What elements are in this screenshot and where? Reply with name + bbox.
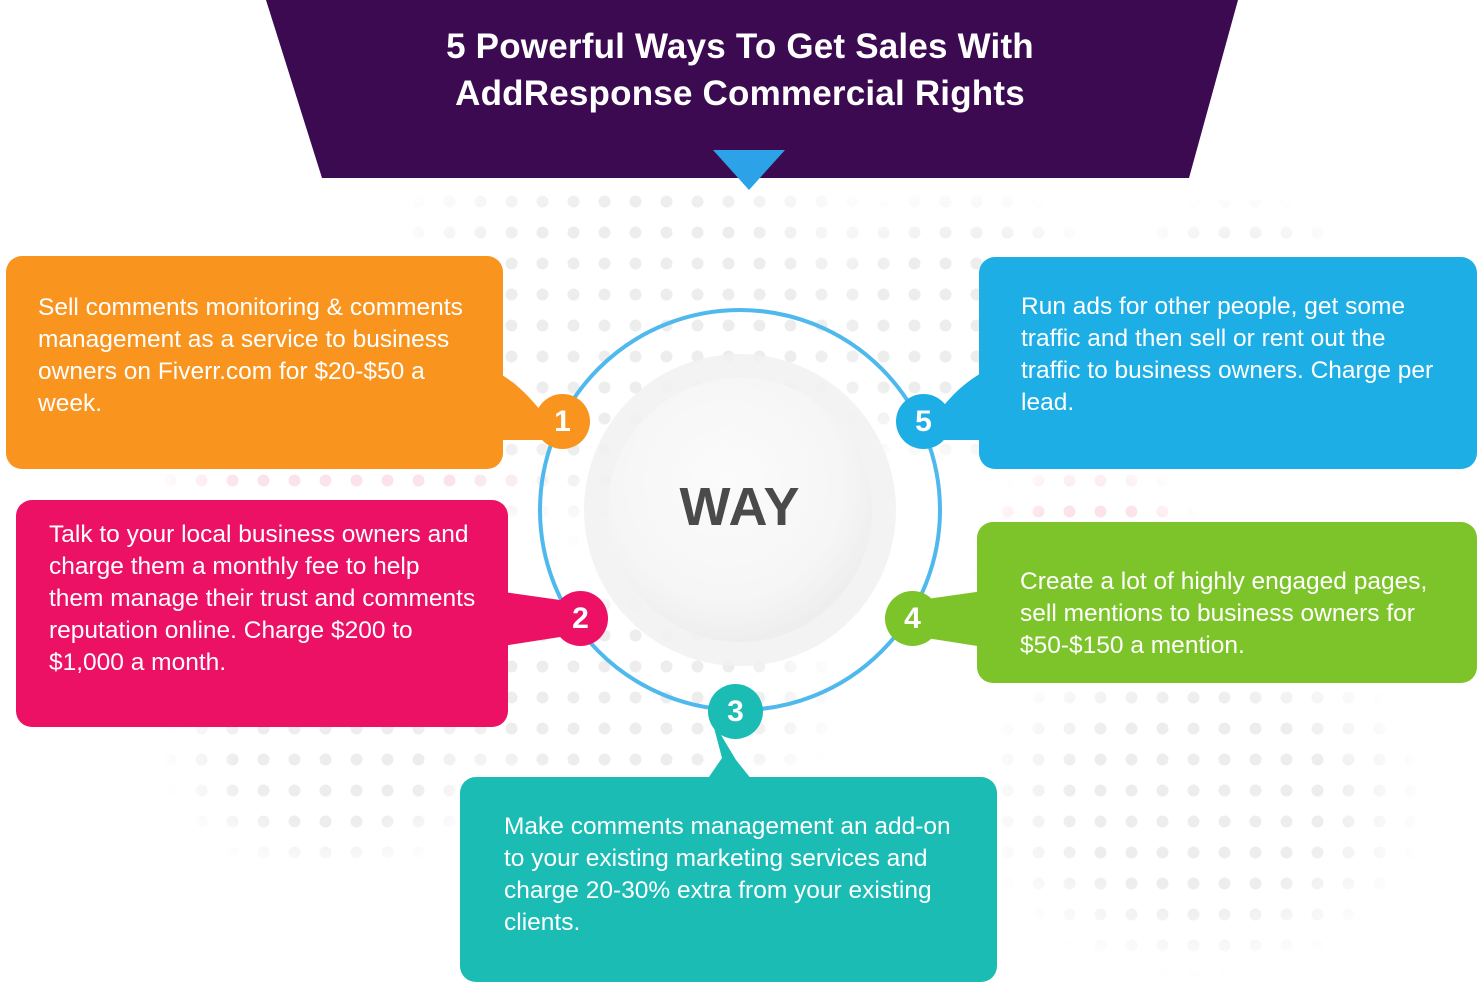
step-badge-2[interactable]: 2 [553, 591, 608, 646]
step-badge-5[interactable]: 5 [896, 394, 951, 449]
callout-text-4: Create a lot of highly engaged pages, se… [1020, 566, 1451, 662]
infographic-canvas: 5 Powerful Ways To Get Sales With AddRes… [0, 0, 1481, 990]
callout-box-4[interactable]: Create a lot of highly engaged pages, se… [977, 522, 1477, 683]
callout-text-2: Talk to your local business owners and c… [49, 519, 478, 679]
callout-box-5[interactable]: Run ads for other people, get some traff… [979, 257, 1477, 469]
callout-text-3: Make comments management an add-on to yo… [504, 811, 965, 939]
callout-text-5: Run ads for other people, get some traff… [1021, 291, 1447, 419]
step-badge-3[interactable]: 3 [708, 684, 763, 739]
callout-text-1: Sell comments monitoring & comments mana… [38, 292, 469, 420]
callout-box-1[interactable]: Sell comments monitoring & comments mana… [6, 256, 503, 469]
callout-box-2[interactable]: Talk to your local business owners and c… [16, 500, 508, 727]
step-badge-1[interactable]: 1 [535, 394, 590, 449]
callout-box-3[interactable]: Make comments management an add-on to yo… [460, 777, 997, 982]
step-badge-4[interactable]: 4 [885, 591, 940, 646]
